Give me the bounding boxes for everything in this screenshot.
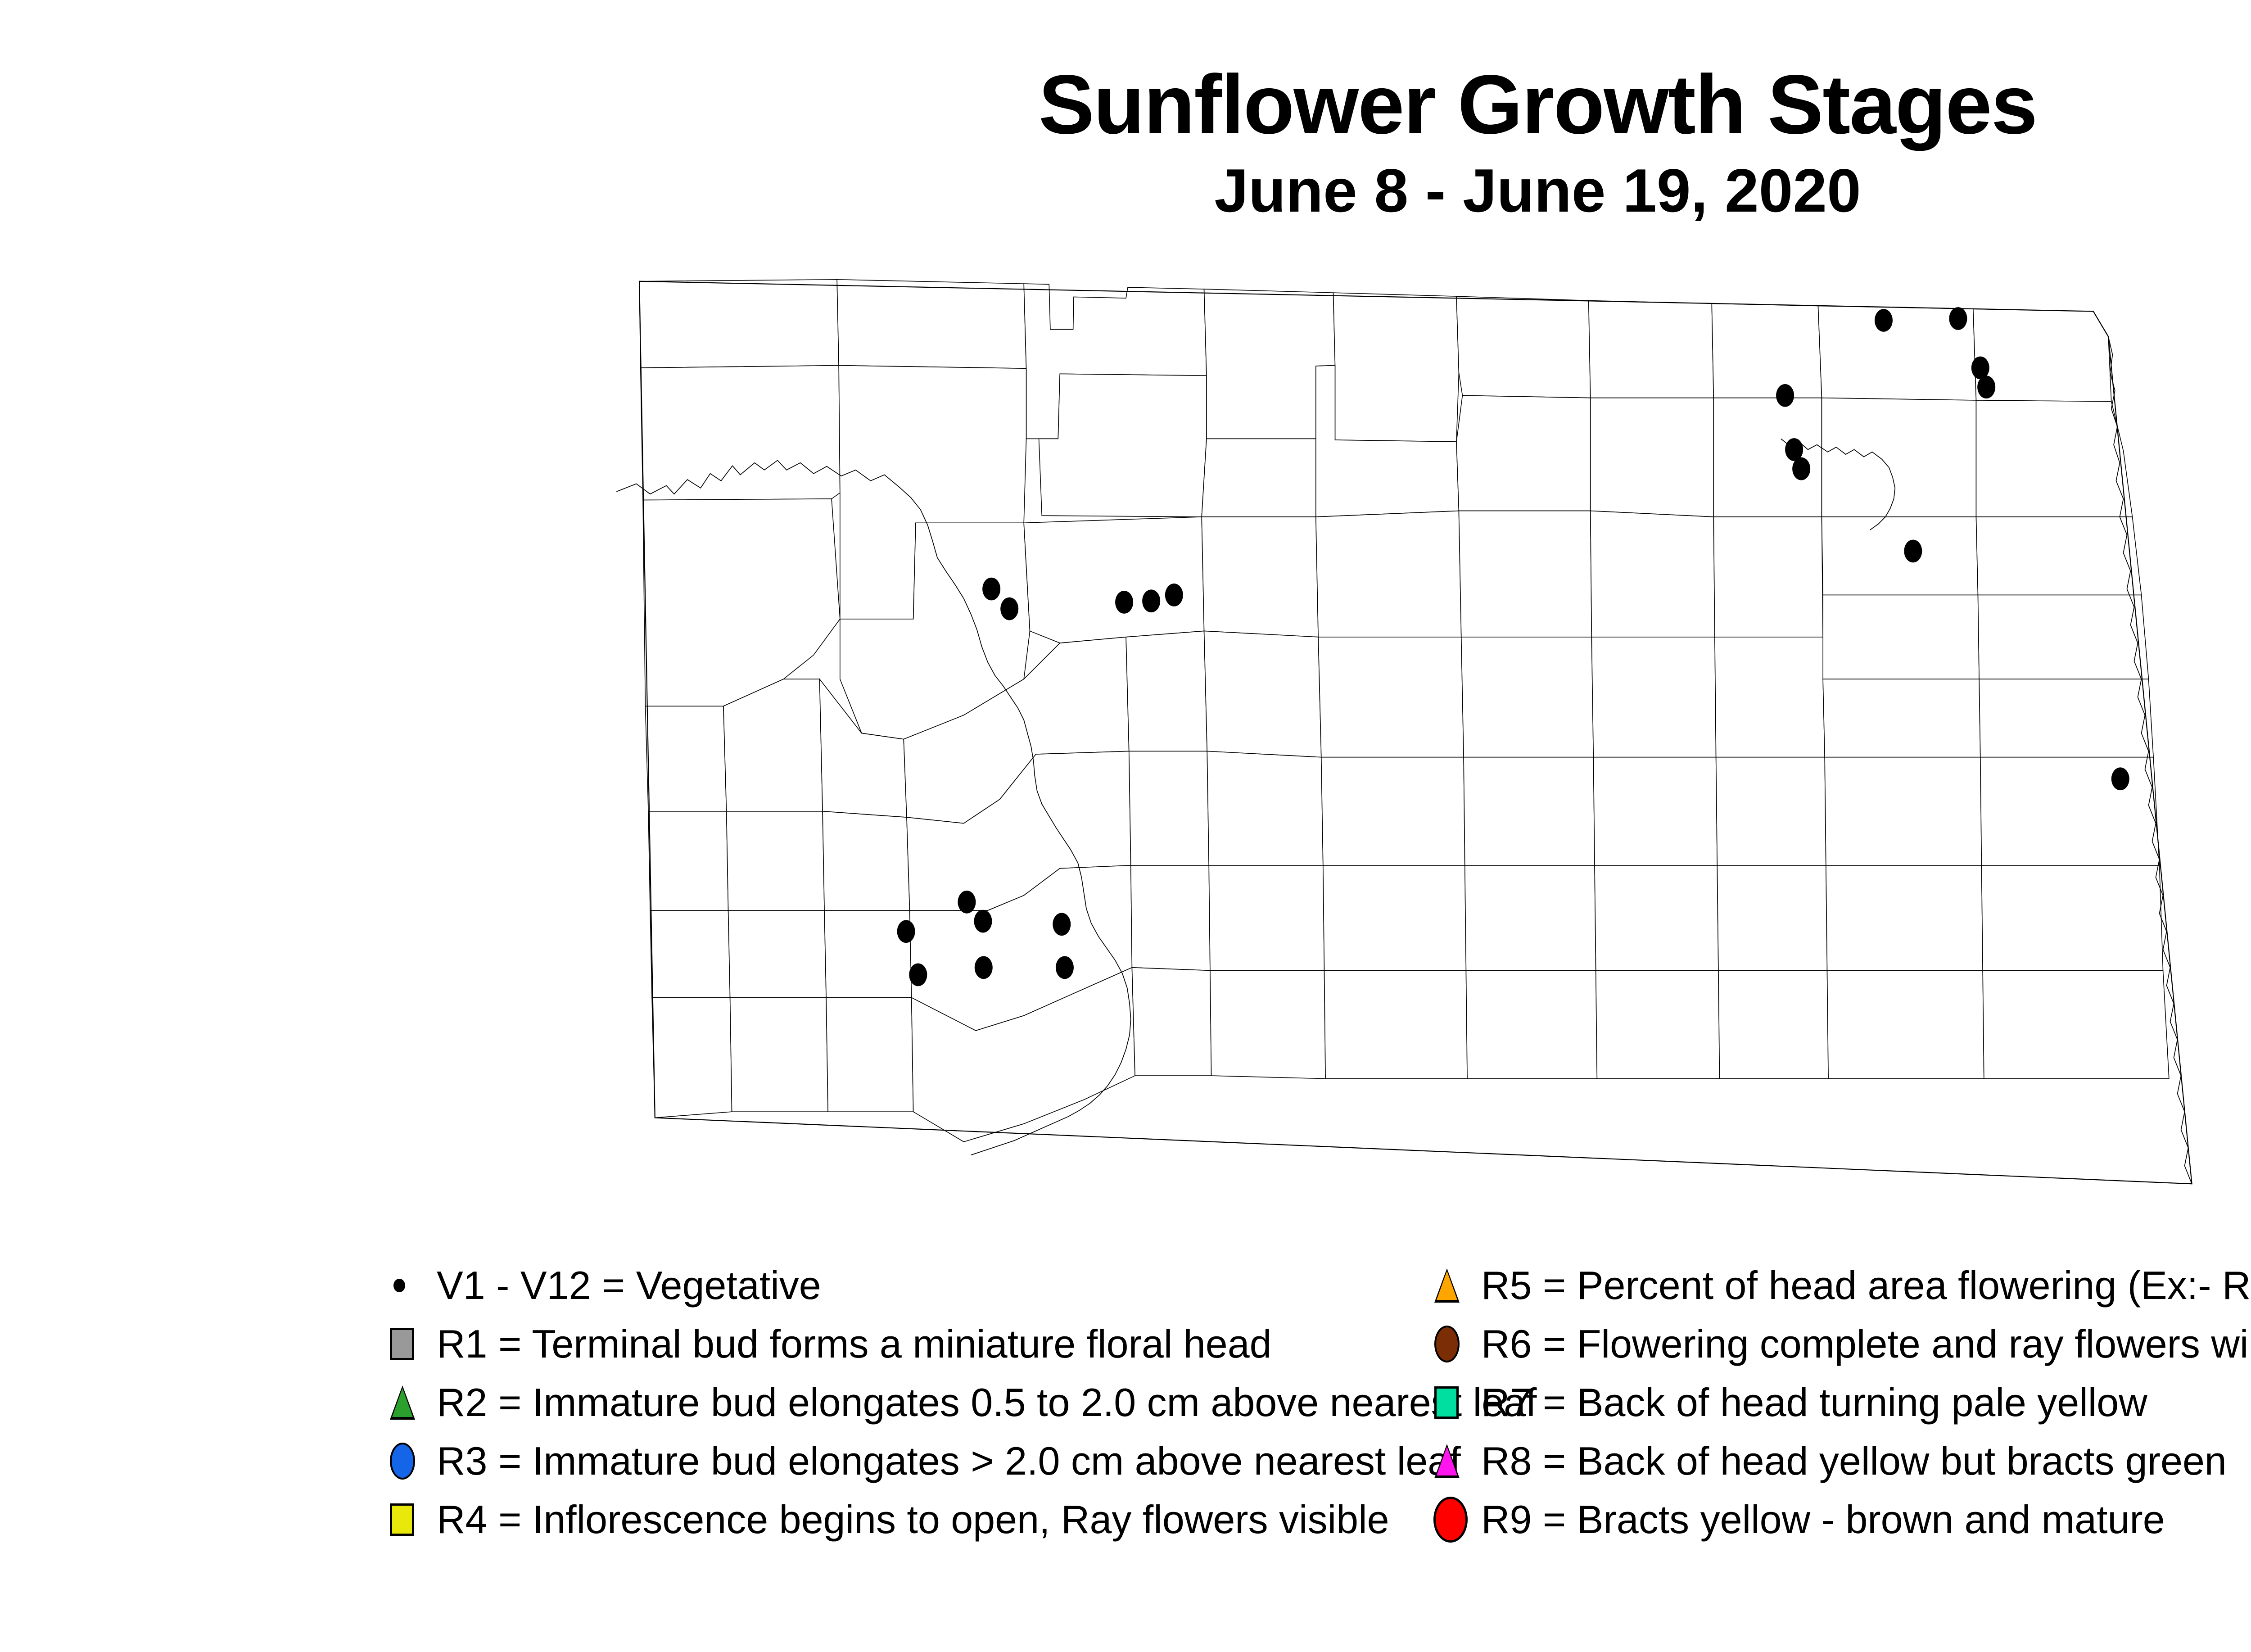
legend-item-r8[interactable]: R8 = Back of head yellow but bracts gree… bbox=[1432, 1432, 2251, 1490]
legend-marker-cell bbox=[387, 1432, 437, 1490]
county-boundaries bbox=[639, 280, 2169, 1142]
legend-item-r9[interactable]: R9 = Bracts yellow - brown and mature bbox=[1432, 1490, 2251, 1549]
data-point bbox=[1949, 307, 1967, 330]
legend-label: R5 = Percent of head area flowering (Ex:… bbox=[1481, 1266, 2251, 1305]
blue-circle-icon bbox=[390, 1443, 415, 1480]
legend-marker-cell bbox=[1432, 1490, 1481, 1549]
legend: V1 - V12 = Vegetative R1 = Terminal bud … bbox=[0, 1256, 2251, 1616]
data-point bbox=[897, 920, 915, 943]
legend-label: R4 = Inflorescence begins to open, Ray f… bbox=[437, 1500, 1389, 1539]
data-point bbox=[1142, 589, 1160, 612]
legend-marker-cell bbox=[1432, 1373, 1481, 1432]
legend-item-r7[interactable]: R7 = Back of head turning pale yellow bbox=[1432, 1373, 2251, 1432]
legend-label: R9 = Bracts yellow - brown and mature bbox=[1481, 1500, 2165, 1539]
legend-item-v1-v12[interactable]: V1 - V12 = Vegetative bbox=[387, 1256, 1468, 1315]
brown-circle-icon bbox=[1434, 1326, 1460, 1362]
data-point bbox=[1776, 384, 1794, 407]
legend-item-r5[interactable]: R5 = Percent of head area flowering (Ex:… bbox=[1432, 1256, 2251, 1315]
data-point bbox=[974, 910, 992, 933]
green-triangle-icon bbox=[390, 1385, 415, 1420]
legend-marker-cell bbox=[1432, 1315, 1481, 1373]
data-point bbox=[1977, 376, 1995, 398]
legend-marker-cell bbox=[387, 1373, 437, 1432]
data-point bbox=[909, 963, 927, 986]
title-block: Sunflower Growth Stages June 8 - June 19… bbox=[0, 63, 2251, 223]
legend-marker-cell bbox=[387, 1315, 437, 1373]
legend-item-r1[interactable]: R1 = Terminal bud forms a miniature flor… bbox=[387, 1315, 1468, 1373]
orange-triangle-icon bbox=[1434, 1268, 1460, 1303]
data-point bbox=[958, 891, 976, 914]
data-point bbox=[1875, 309, 1893, 332]
legend-marker-cell bbox=[387, 1490, 437, 1549]
legend-item-r3[interactable]: R3 = Immature bud elongates > 2.0 cm abo… bbox=[387, 1432, 1468, 1490]
data-point bbox=[975, 956, 993, 979]
data-point bbox=[1115, 591, 1133, 614]
legend-label: R3 = Immature bud elongates > 2.0 cm abo… bbox=[437, 1441, 1461, 1481]
legend-item-r6[interactable]: R6 = Flowering complete and ray flowers … bbox=[1432, 1315, 2251, 1373]
legend-marker-cell bbox=[1432, 1256, 1481, 1315]
data-point bbox=[982, 578, 1000, 601]
magenta-triangle-icon bbox=[1434, 1444, 1460, 1478]
data-point bbox=[1053, 913, 1071, 936]
legend-column-right: R5 = Percent of head area flowering (Ex:… bbox=[1432, 1256, 2251, 1549]
yellow-square-icon bbox=[390, 1503, 414, 1536]
legend-column-left: V1 - V12 = Vegetative R1 = Terminal bud … bbox=[387, 1256, 1468, 1549]
legend-label: V1 - V12 = Vegetative bbox=[437, 1266, 821, 1305]
data-point bbox=[1000, 597, 1018, 620]
data-point bbox=[1792, 457, 1810, 480]
legend-label: R6 = Flowering complete and ray flowers … bbox=[1481, 1324, 2251, 1364]
data-point bbox=[1165, 584, 1183, 606]
legend-label: R7 = Back of head turning pale yellow bbox=[1481, 1383, 2147, 1422]
data-point bbox=[1904, 540, 1922, 563]
turquoise-square-icon bbox=[1434, 1386, 1459, 1419]
data-point bbox=[1056, 956, 1074, 979]
red-circle-icon bbox=[1433, 1497, 1468, 1543]
legend-marker-cell bbox=[387, 1256, 437, 1315]
legend-label: R8 = Back of head yellow but bracts gree… bbox=[1481, 1441, 2227, 1481]
legend-label: R1 = Terminal bud forms a miniature flor… bbox=[437, 1324, 1272, 1364]
north-dakota-county-map bbox=[603, 254, 2237, 1200]
legend-item-r2[interactable]: R2 = Immature bud elongates 0.5 to 2.0 c… bbox=[387, 1373, 1468, 1432]
data-point bbox=[2111, 767, 2129, 790]
legend-item-r4[interactable]: R4 = Inflorescence begins to open, Ray f… bbox=[387, 1490, 1468, 1549]
page-title: Sunflower Growth Stages bbox=[0, 63, 2251, 147]
legend-label: R2 = Immature bud elongates 0.5 to 2.0 c… bbox=[437, 1383, 1537, 1422]
gray-square-icon bbox=[390, 1328, 414, 1360]
legend-marker-cell bbox=[1432, 1432, 1481, 1490]
black-dot-icon bbox=[393, 1279, 405, 1292]
page-subtitle: June 8 - June 19, 2020 bbox=[0, 158, 2251, 223]
map-svg bbox=[603, 254, 2237, 1200]
